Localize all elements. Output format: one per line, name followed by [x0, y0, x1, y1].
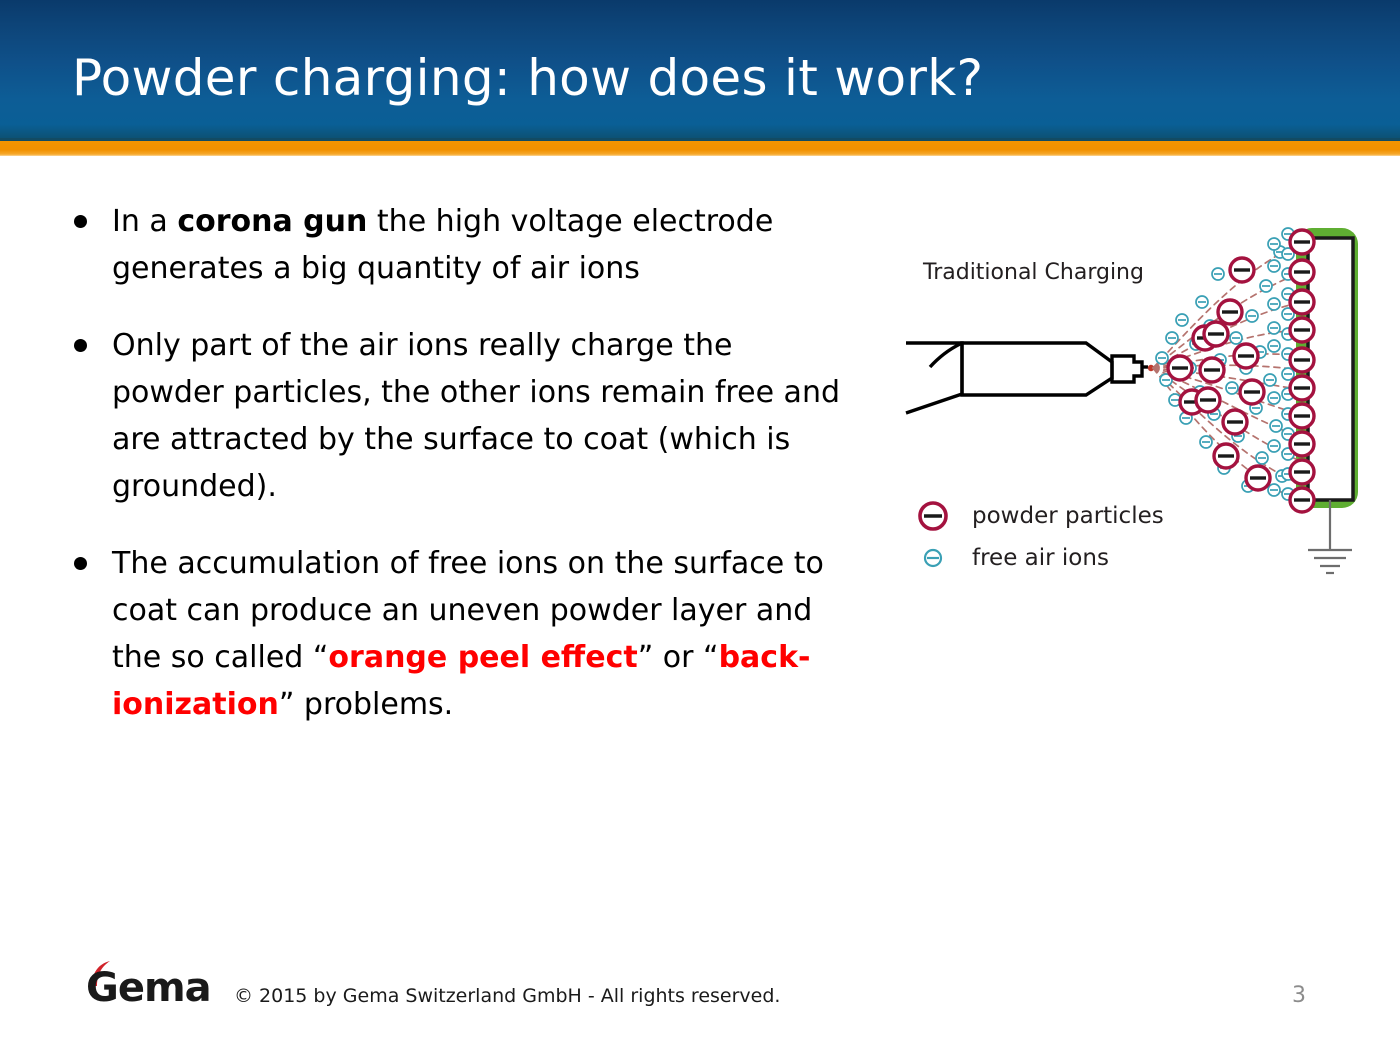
- diagram-title: Traditional Charging: [923, 260, 1144, 285]
- bullet-marker-icon: [74, 215, 87, 228]
- bullet-marker-icon: [74, 557, 87, 570]
- bullet-list: In a corona gun the high voltage electro…: [62, 198, 852, 728]
- legend-label-powder-particles: powder particles: [972, 503, 1164, 529]
- legend-row-powder-particles: powder particles: [910, 495, 1164, 537]
- page-number: 3: [1292, 983, 1306, 1008]
- free-air-ion-symbol: [910, 541, 972, 575]
- bullet-text-orange-peel: The accumulation of free ions on the sur…: [112, 546, 824, 722]
- gema-logo: Gema: [86, 966, 216, 1012]
- gema-logo-text: Gema: [86, 968, 211, 1008]
- bullet-item-orange-peel: The accumulation of free ions on the sur…: [62, 540, 852, 728]
- bullet-item-air-ions: Only part of the air ions really charge …: [62, 322, 852, 510]
- legend-label-free-air-ions: free air ions: [972, 545, 1109, 571]
- bullet-text-corona-gun: In a corona gun the high voltage electro…: [112, 204, 773, 286]
- powder-particle-symbol: [910, 499, 972, 533]
- copyright-notice: © 2015 by Gema Switzerland GmbH - All ri…: [234, 985, 780, 1007]
- legend-row-free-air-ions: free air ions: [910, 537, 1164, 579]
- bullet-text-air-ions: Only part of the air ions really charge …: [112, 328, 840, 504]
- bullet-marker-icon: [74, 339, 87, 352]
- page-title: Powder charging: how does it work?: [72, 52, 983, 105]
- bullet-item-corona-gun: In a corona gun the high voltage electro…: [62, 198, 852, 292]
- header-accent-bar: [0, 141, 1400, 156]
- corona-gun-icon: [906, 343, 1148, 413]
- diagram-legend: powder particles free air ions: [910, 495, 1164, 579]
- ground-symbol-icon: [1308, 500, 1352, 573]
